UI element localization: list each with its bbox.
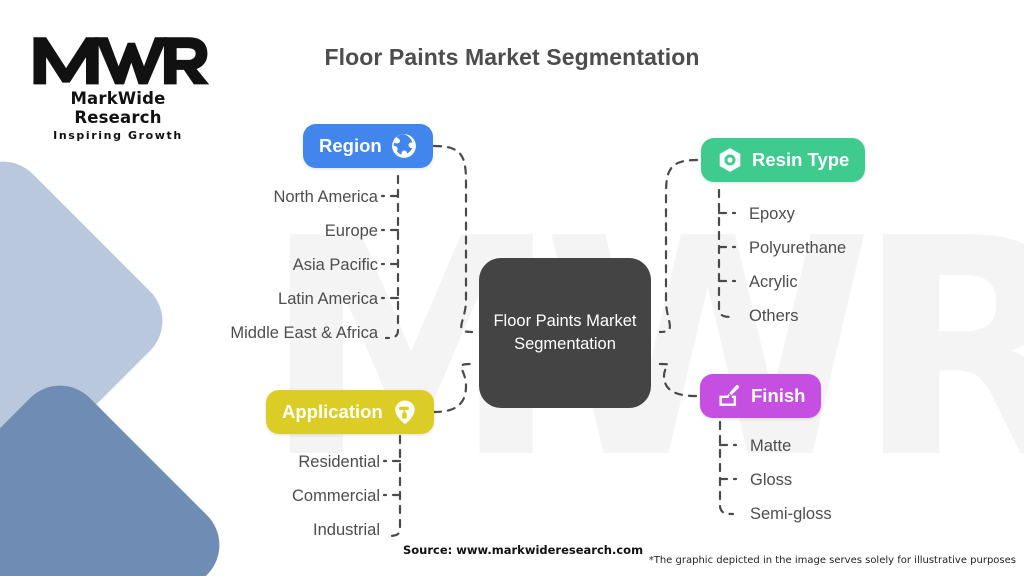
leaf-resin-3: Others [749,307,799,325]
wire-finish-spine [720,422,733,514]
wire-region-spine [386,176,398,338]
hexagon-target-icon [717,147,743,173]
wire-application-spine [388,436,400,536]
center-node-label: Floor Paints Market Segmentation [479,310,651,356]
leaf-region-2: Asia Pacific [293,256,378,274]
branch-badge-resin-type[interactable]: Resin Type [701,138,865,182]
leaf-application-1: Commercial [292,487,380,505]
branch-badge-application[interactable]: Application [266,390,434,434]
branch-label-finish: Finish [751,385,805,407]
paint-roller-icon [392,399,418,425]
paint-brush-icon [716,383,742,409]
wire-resin-to-center [660,160,697,332]
branch-label-application: Application [282,401,383,423]
leaf-resin-1: Polyurethane [749,239,846,257]
leaf-resin-2: Acrylic [749,273,798,291]
leaf-region-1: Europe [325,222,378,240]
branch-badge-region[interactable]: Region [303,124,433,168]
leaf-region-4: Middle East & Africa [230,324,378,342]
branch-label-resin-type: Resin Type [752,149,849,171]
globe-icon [391,133,417,159]
leaf-finish-2: Semi-gloss [750,505,832,523]
wire-region-to-center [434,146,472,332]
branch-label-region: Region [319,135,382,157]
wire-resin-spine [719,190,732,317]
wire-finish-to-center [658,364,696,396]
source-label: Source: www.markwideresearch.com [403,543,643,557]
leaf-application-2: Industrial [313,521,380,539]
branch-badge-finish[interactable]: Finish [700,374,821,418]
disclaimer-label: *The graphic depicted in the image serve… [649,555,1016,566]
leaf-region-3: Latin America [278,290,378,308]
leaf-finish-0: Matte [750,437,791,455]
leaf-application-0: Residential [298,453,380,471]
leaf-region-0: North America [273,188,378,206]
wire-application-to-center [434,364,472,412]
leaf-finish-1: Gloss [750,471,792,489]
center-node[interactable]: Floor Paints Market Segmentation [479,258,651,408]
leaf-resin-0: Epoxy [749,205,795,223]
